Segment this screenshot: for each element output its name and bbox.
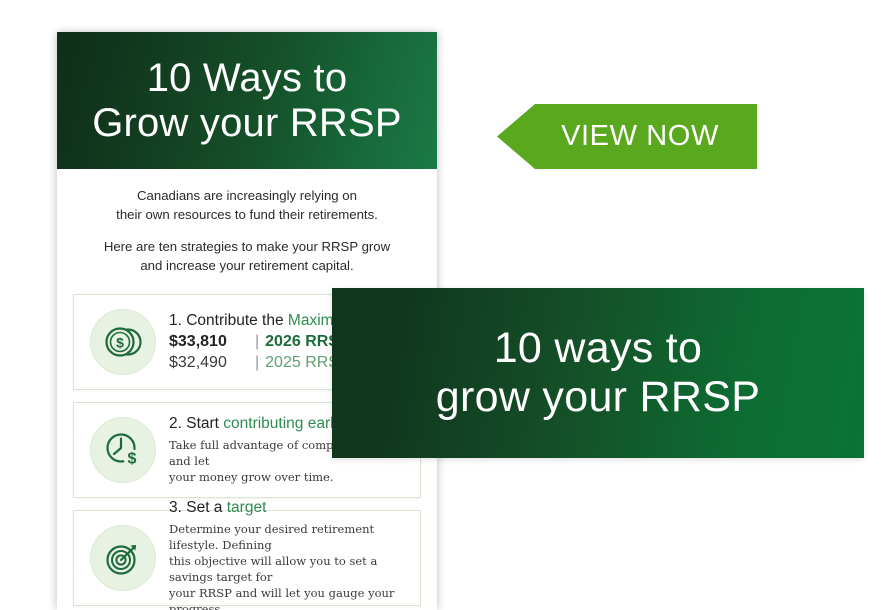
- tip-desc-3: Determine your desired retirement lifest…: [169, 521, 410, 610]
- tip-title-2-accent: contributing early: [223, 415, 341, 432]
- view-now-label: VIEW NOW: [535, 120, 719, 153]
- overlay-banner[interactable]: 10 ways to grow your RRSP: [332, 288, 864, 458]
- overlay-banner-title: 10 ways to grow your RRSP: [436, 324, 760, 421]
- tip-body-3: 3. Set a target Determine your desired r…: [169, 498, 410, 610]
- svg-text:$: $: [116, 334, 124, 350]
- coins-dollar-icon: $: [90, 309, 156, 375]
- intro-paragraph-2: Here are ten strategies to make your RRS…: [83, 237, 411, 275]
- tip-title-2-plain: 2. Start: [169, 415, 223, 432]
- target-arrow-icon: [90, 525, 156, 591]
- tip-1-separator-1: |: [255, 333, 259, 351]
- clock-dollar-icon: $: [90, 417, 156, 483]
- page-title: 10 Ways to Grow your RRSP: [92, 56, 402, 146]
- tip-1-separator-2: |: [255, 354, 259, 372]
- svg-text:$: $: [128, 450, 137, 467]
- tip-1-amount-2025: $32,490: [169, 354, 247, 372]
- tip-title-3: 3. Set a target: [169, 498, 410, 517]
- panel-header: 10 Ways to Grow your RRSP: [57, 32, 437, 169]
- intro-paragraph-1: Canadians are increasingly relying on th…: [83, 186, 411, 224]
- tip-1-amount-2026: $33,810: [169, 333, 247, 351]
- tip-title-3-plain: 3. Set a: [169, 499, 227, 516]
- tip-title-3-accent: target: [227, 499, 267, 516]
- tip-title-1-plain: 1. Contribute the: [169, 312, 288, 329]
- view-now-button[interactable]: VIEW NOW: [497, 104, 757, 169]
- intro-section: Canadians are increasingly relying on th…: [57, 169, 437, 282]
- tip-card-3[interactable]: 3. Set a target Determine your desired r…: [73, 510, 421, 606]
